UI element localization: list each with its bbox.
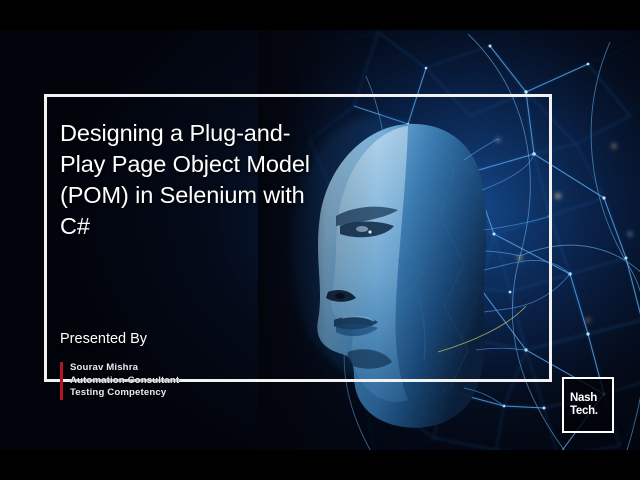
presentation-slide: Designing a Plug-and-Play Page Object Mo… bbox=[0, 30, 640, 450]
presenter-role: Automation Consultant bbox=[70, 375, 179, 388]
presenter-block: Presented By Sourav Mishra Automation Co… bbox=[60, 330, 179, 400]
letterbox-bottom bbox=[0, 450, 640, 480]
video-frame: Designing a Plug-and-Play Page Object Mo… bbox=[0, 0, 640, 480]
presenter-team: Testing Competency bbox=[70, 387, 179, 400]
page-title: Designing a Plug-and-Play Page Object Mo… bbox=[60, 118, 320, 242]
presented-by-label: Presented By bbox=[60, 330, 179, 348]
brand-logo-line-2: Tech. bbox=[570, 405, 612, 418]
presenter-lines: Sourav Mishra Automation Consultant Test… bbox=[70, 362, 179, 400]
presenter-details: Sourav Mishra Automation Consultant Test… bbox=[60, 362, 179, 400]
brand-logo-line-1: Nash bbox=[570, 392, 612, 405]
presenter-name: Sourav Mishra bbox=[70, 362, 179, 375]
letterbox-top bbox=[0, 0, 640, 30]
accent-bar bbox=[60, 362, 63, 400]
nashtech-logo: Nash Tech. bbox=[562, 377, 614, 433]
title-block: Designing a Plug-and-Play Page Object Mo… bbox=[60, 118, 320, 242]
